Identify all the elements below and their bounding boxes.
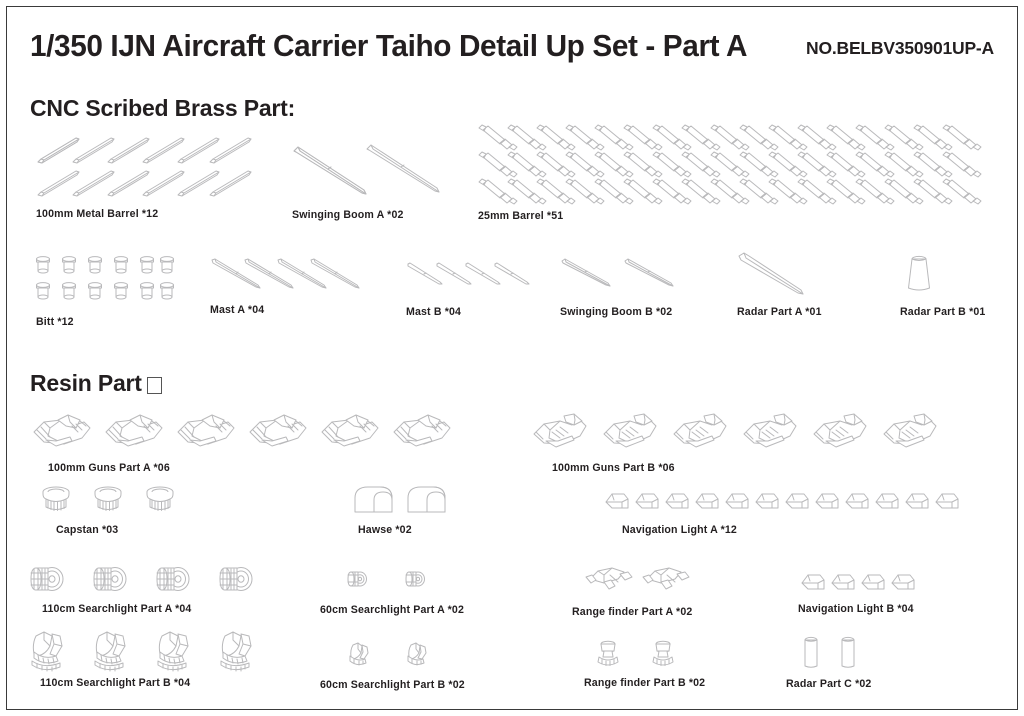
part-caption-bitt: Bitt *12	[36, 316, 176, 328]
part-caption-mast-a: Mast A *04	[210, 304, 370, 316]
part-art-radar-part-b	[900, 252, 985, 298]
part-group-radar-part-a: Radar Part A *01	[737, 252, 822, 318]
part-group-capstan: Capstan *03	[40, 485, 190, 536]
part-group-100mm-metal-barrel: 100mm Metal Barrel *12	[36, 136, 251, 220]
part-group-60cm-searchlight-part-a: 60cm Searchlight Part A *02	[344, 566, 464, 616]
part-caption-60cm-searchlight-part-a: 60cm Searchlight Part A *02	[320, 604, 464, 616]
part-art-60cm-searchlight-part-b	[344, 642, 465, 672]
part-caption-100mm-metal-barrel: 100mm Metal Barrel *12	[36, 208, 251, 220]
section-heading-brass-label: CNC Scribed Brass Part:	[30, 95, 295, 122]
part-caption-navigation-light-a: Navigation Light A *12	[622, 524, 974, 536]
part-art-range-finder-part-a	[584, 566, 704, 598]
part-art-radar-part-a	[737, 252, 822, 298]
part-art-navigation-light-a	[604, 489, 974, 517]
part-group-navigation-light-b: Navigation Light B *04	[800, 570, 920, 615]
part-art-100mm-guns-part-a	[28, 412, 488, 456]
part-group-25mm-barrel: 25mm Barrel *51	[478, 124, 998, 222]
part-art-swinging-boom-b	[560, 258, 690, 296]
section-heading-brass: CNC Scribed Brass Part:	[30, 95, 295, 122]
part-caption-radar-part-a: Radar Part A *01	[737, 306, 822, 318]
part-group-radar-part-c: Radar Part C *02	[800, 636, 910, 690]
part-group-swinging-boom-b: Swinging Boom B *02	[560, 258, 690, 318]
part-group-range-finder-part-a: Range finder Part A *02	[584, 566, 704, 618]
part-art-swinging-boom-a	[292, 143, 452, 201]
part-art-100mm-metal-barrel	[36, 136, 251, 202]
section-heading-resin: Resin Part	[30, 370, 162, 397]
part-group-swinging-boom-a: Swinging Boom A *02	[292, 143, 452, 221]
part-caption-swinging-boom-a: Swinging Boom A *02	[292, 209, 452, 221]
part-group-100mm-guns-part-b: 100mm Guns Part B *06	[530, 412, 970, 474]
instruction-sheet: 1/350 IJN Aircraft Carrier Taiho Detail …	[0, 0, 1024, 716]
part-caption-100mm-guns-part-a: 100mm Guns Part A *06	[48, 462, 488, 474]
part-caption-range-finder-part-b: Range finder Part B *02	[584, 677, 705, 689]
part-group-mast-a: Mast A *04	[210, 258, 370, 316]
part-caption-60cm-searchlight-part-b: 60cm Searchlight Part B *02	[320, 679, 465, 691]
part-group-hawse: Hawse *02	[352, 484, 462, 536]
section-heading-resin-label: Resin Part	[30, 370, 142, 397]
part-caption-capstan: Capstan *03	[56, 524, 190, 536]
part-art-mast-b	[406, 262, 536, 296]
part-group-110cm-searchlight-part-a: 110cm Searchlight Part A *04	[26, 560, 276, 615]
part-caption-swinging-boom-b: Swinging Boom B *02	[560, 306, 690, 318]
part-art-bitt	[36, 256, 176, 308]
part-group-bitt: Bitt *12	[36, 256, 176, 328]
page-title: 1/350 IJN Aircraft Carrier Taiho Detail …	[30, 28, 747, 64]
part-caption-range-finder-part-a: Range finder Part A *02	[572, 606, 704, 618]
part-art-navigation-light-b	[800, 570, 920, 596]
part-group-range-finder-part-b: Range finder Part B *02	[592, 640, 705, 689]
part-art-range-finder-part-b	[592, 640, 705, 672]
part-caption-mast-b: Mast B *04	[406, 306, 536, 318]
part-caption-25mm-barrel: 25mm Barrel *51	[478, 210, 998, 222]
part-caption-110cm-searchlight-part-b: 110cm Searchlight Part B *04	[40, 677, 276, 689]
part-art-mast-a	[210, 258, 370, 296]
part-art-60cm-searchlight-part-a	[344, 566, 464, 596]
part-group-60cm-searchlight-part-b: 60cm Searchlight Part B *02	[344, 642, 465, 691]
part-caption-100mm-guns-part-b: 100mm Guns Part B *06	[552, 462, 970, 474]
part-art-capstan	[40, 485, 190, 519]
part-art-hawse	[352, 484, 462, 518]
part-caption-110cm-searchlight-part-a: 110cm Searchlight Part A *04	[42, 603, 276, 615]
part-caption-radar-part-b: Radar Part B *01	[900, 306, 985, 318]
part-group-mast-b: Mast B *04	[406, 262, 536, 318]
part-art-25mm-barrel	[478, 124, 998, 204]
part-group-100mm-guns-part-a: 100mm Guns Part A *06	[28, 412, 488, 474]
part-art-110cm-searchlight-part-a	[26, 560, 276, 598]
kit-part-number: NO.BELBV350901UP-A	[806, 38, 994, 59]
sheet-header: 1/350 IJN Aircraft Carrier Taiho Detail …	[30, 28, 994, 76]
part-art-100mm-guns-part-b	[530, 412, 970, 456]
part-art-radar-part-c	[800, 636, 910, 672]
part-caption-hawse: Hawse *02	[358, 524, 462, 536]
part-group-navigation-light-a: Navigation Light A *12	[604, 489, 974, 536]
part-caption-radar-part-c: Radar Part C *02	[786, 678, 910, 690]
part-group-110cm-searchlight-part-b: 110cm Searchlight Part B *04	[26, 630, 276, 689]
missing-glyph-box-icon	[147, 377, 162, 394]
part-group-radar-part-b: Radar Part B *01	[900, 252, 985, 318]
part-art-110cm-searchlight-part-b	[26, 630, 276, 674]
part-caption-navigation-light-b: Navigation Light B *04	[798, 603, 920, 615]
